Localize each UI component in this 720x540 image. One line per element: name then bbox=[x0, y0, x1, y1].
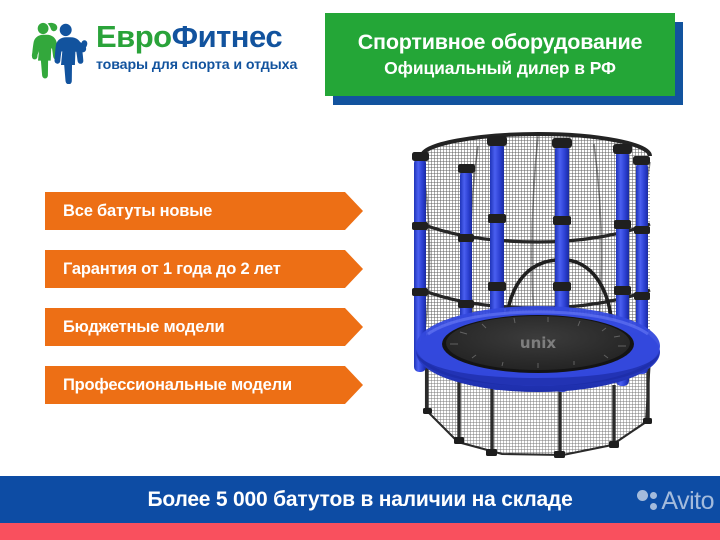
feature-item: Гарантия от 1 года до 2 лет bbox=[45, 250, 365, 288]
avito-wordmark: Avito bbox=[661, 489, 714, 514]
headline-line-1: Спортивное оборудование bbox=[358, 29, 643, 56]
headline-banner: Спортивное оборудование Официальный диле… bbox=[325, 13, 683, 105]
avito-dots-logo-icon bbox=[637, 490, 659, 512]
brand-wordmark: ЕвроФитнес товары для спорта и отдыха bbox=[96, 18, 328, 74]
avito-watermark: Avito bbox=[637, 486, 714, 516]
headline-line-2: Официальный дилер в РФ bbox=[384, 56, 616, 80]
mat-brand-text: unix bbox=[520, 334, 556, 352]
male-athlete-icon bbox=[54, 24, 87, 84]
athletes-logo-mark bbox=[22, 20, 94, 84]
brand-tagline: товары для спорта и отдыха bbox=[96, 56, 328, 74]
feature-label: Профессиональные модели bbox=[63, 366, 292, 404]
footer-bar: Более 5 000 батутов в наличии на складе bbox=[0, 476, 720, 523]
brand-name-part2: Фитнес bbox=[172, 19, 283, 54]
product-image-trampoline: unix bbox=[398, 122, 710, 472]
footer-accent-stripe bbox=[0, 523, 720, 540]
female-athlete-icon bbox=[32, 23, 59, 79]
promo-banner-page: ЕвроФитнес товары для спорта и отдыха Сп… bbox=[0, 0, 720, 540]
feature-label: Гарантия от 1 года до 2 лет bbox=[63, 250, 281, 288]
brand-name-part1: Евро bbox=[96, 19, 172, 54]
feature-item: Профессиональные модели bbox=[45, 366, 365, 404]
feature-item: Бюджетные модели bbox=[45, 308, 365, 346]
feature-list: Все батуты новые Гарантия от 1 года до 2… bbox=[45, 192, 365, 424]
brand-logo: ЕвроФитнес товары для спорта и отдыха bbox=[22, 18, 322, 94]
feature-item: Все батуты новые bbox=[45, 192, 365, 230]
brand-name: ЕвроФитнес bbox=[96, 18, 328, 56]
feature-label: Все батуты новые bbox=[63, 192, 212, 230]
footer-text: Более 5 000 батутов в наличии на складе bbox=[147, 488, 572, 512]
feature-label: Бюджетные модели bbox=[63, 308, 224, 346]
headline-banner-body: Спортивное оборудование Официальный диле… bbox=[325, 13, 675, 96]
